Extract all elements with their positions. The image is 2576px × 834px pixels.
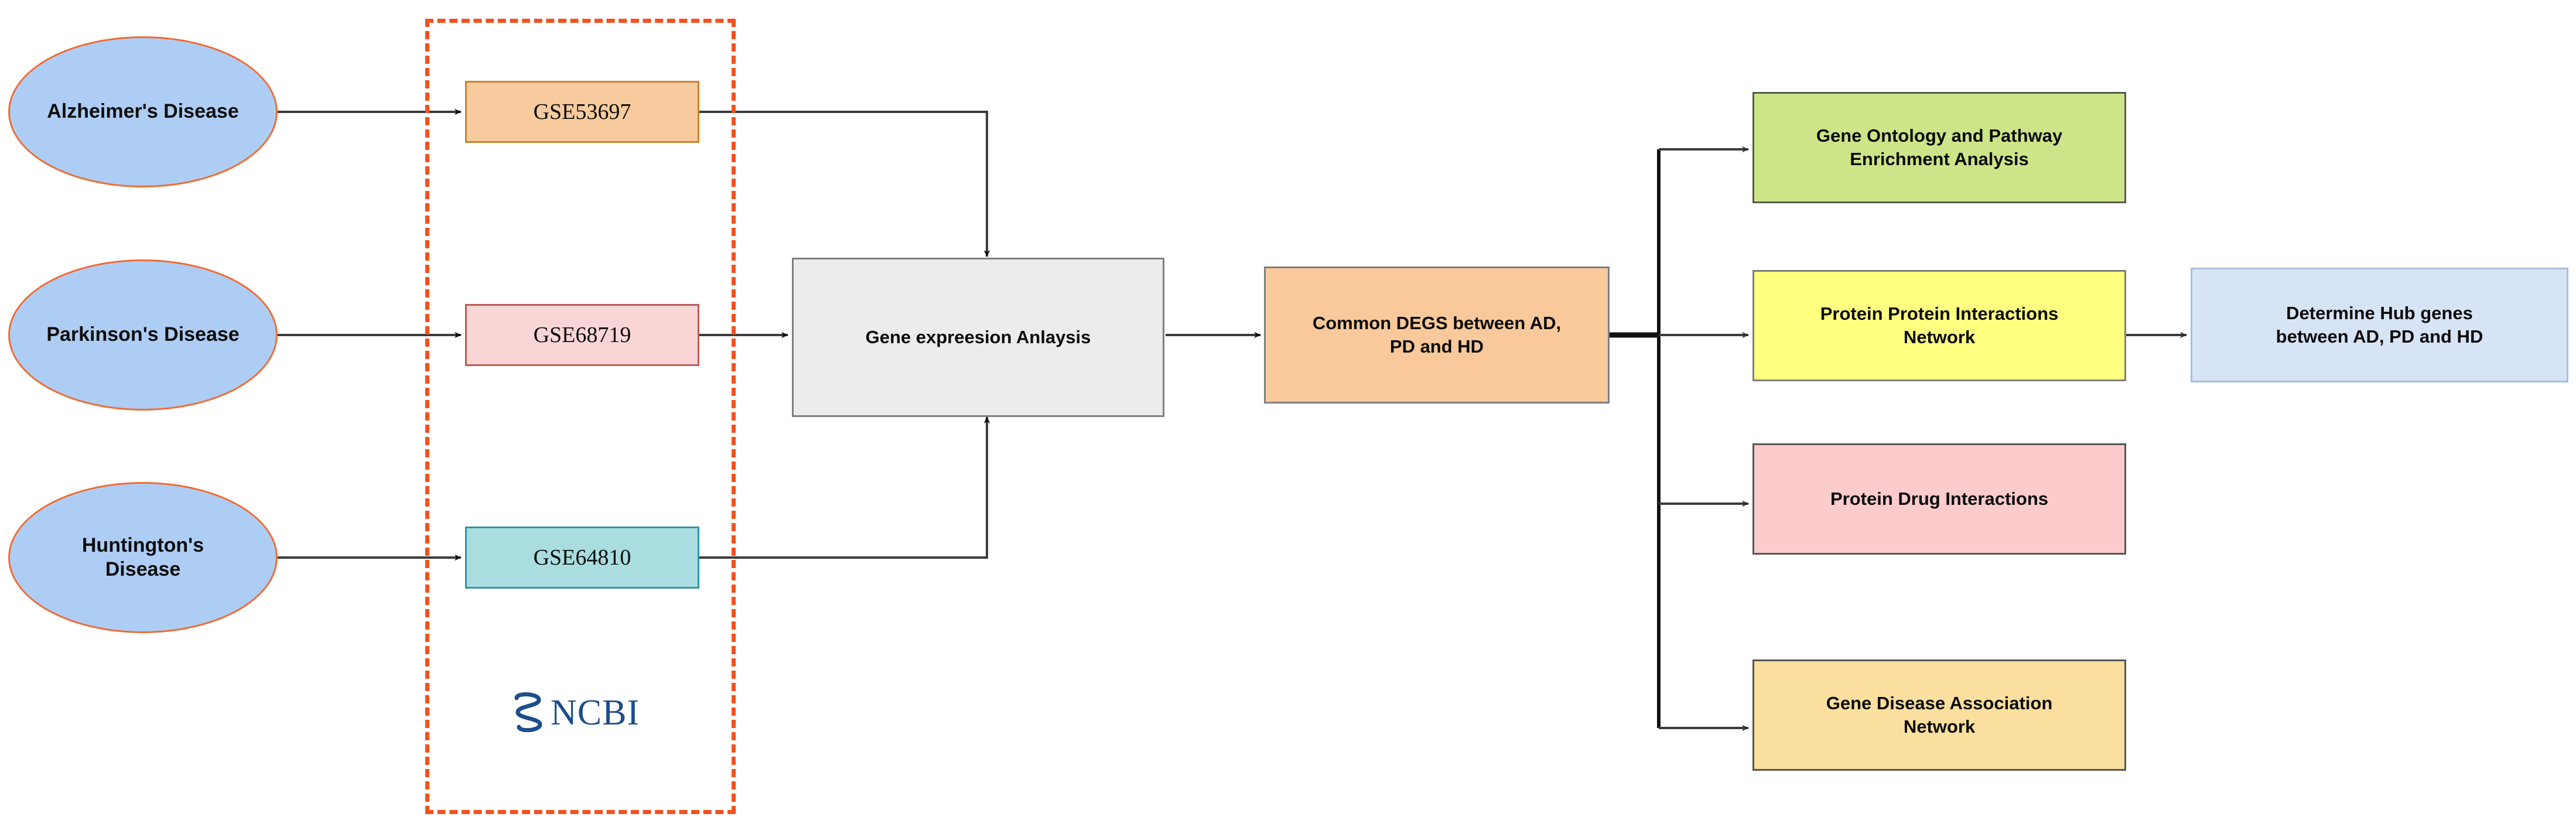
dataset-box-gse68719[interactable]: GSE68719 [465, 304, 699, 366]
disease-label-huntingtons: Huntington'sDisease [82, 534, 204, 582]
process-box-gene-expression-analysis[interactable]: Gene expreesion Anlaysis [792, 258, 1164, 417]
disease-label-parkinsons: Parkinson's Disease [46, 323, 239, 347]
dataset-label-gse68719: GSE68719 [525, 322, 640, 348]
result-label-hub-genes: Determine Hub genesbetween AD, PD and HD [2268, 302, 2492, 349]
disease-ellipse-huntingtons[interactable]: Huntington'sDisease [8, 482, 278, 633]
result-box-go-pathway[interactable]: Gene Ontology and PathwayEnrichment Anal… [1752, 92, 2126, 203]
ncbi-wordmark: NCBI [551, 695, 640, 731]
dataset-label-gse53697: GSE53697 [525, 99, 640, 125]
dataset-box-gse53697[interactable]: GSE53697 [465, 81, 699, 143]
disease-ellipse-alzheimers[interactable]: Alzheimer's Disease [8, 36, 278, 187]
process-box-common-degs[interactable]: Common DEGS between AD,PD and HD [1264, 266, 1610, 404]
result-label-go-pathway: Gene Ontology and PathwayEnrichment Anal… [1808, 124, 2071, 172]
dataset-label-gse64810: GSE64810 [525, 545, 640, 570]
flowchart-canvas: NCBI Alzheimer's Disease Parkinson's Dis… [0, 0, 2576, 834]
process-label-gene-expression-analysis: Gene expreesion Anlaysis [857, 326, 1099, 349]
result-box-protein-drug[interactable]: Protein Drug Interactions [1752, 443, 2126, 555]
result-box-gene-disease[interactable]: Gene Disease AssociationNetwork [1752, 659, 2126, 771]
disease-ellipse-parkinsons[interactable]: Parkinson's Disease [8, 259, 278, 411]
result-label-gene-disease: Gene Disease AssociationNetwork [1818, 692, 2061, 739]
result-box-hub-genes[interactable]: Determine Hub genesbetween AD, PD and HD [2191, 268, 2568, 382]
process-label-common-degs: Common DEGS between AD,PD and HD [1304, 312, 1569, 359]
disease-label-alzheimers: Alzheimer's Disease [47, 100, 238, 124]
dataset-box-gse64810[interactable]: GSE64810 [465, 527, 699, 589]
result-label-ppi-network: Protein Protein InteractionsNetwork [1812, 302, 2067, 350]
result-box-ppi-network[interactable]: Protein Protein InteractionsNetwork [1752, 270, 2126, 381]
wire-gse53697-to-gene-expression [699, 112, 987, 257]
ncbi-logo: NCBI [511, 690, 640, 736]
dna-helix-icon [511, 690, 547, 736]
connector-layer [0, 0, 2576, 834]
result-label-protein-drug: Protein Drug Interactions [1822, 487, 2056, 511]
wire-gse64810-to-gene-expression [699, 417, 987, 558]
